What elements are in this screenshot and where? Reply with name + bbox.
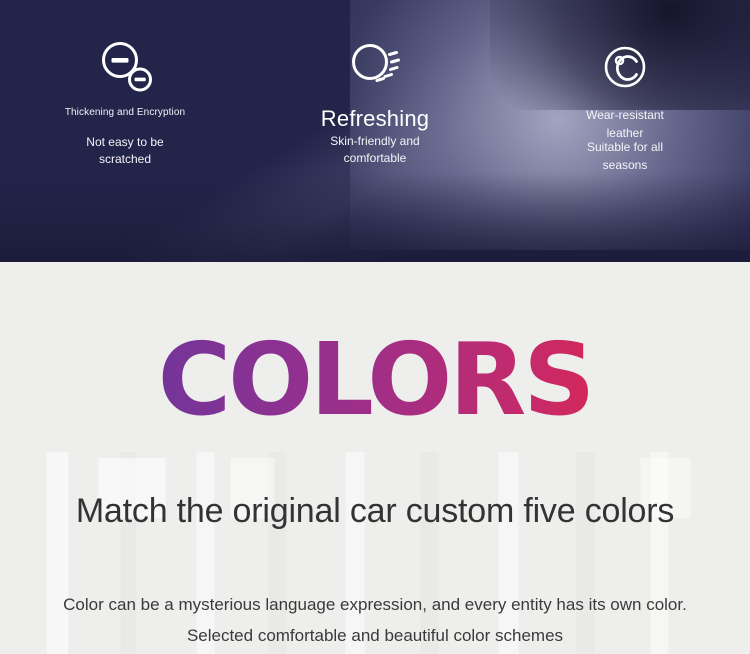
feature-subtitle-line-1: Skin-friendly and [330,134,419,148]
feature-item-wear-resistant: Wear-resistant leather Suitable for all … [500,34,750,174]
feature-title: Wear-resistant leather [500,106,750,142]
subcopy-line-2: Selected comfortable and beautiful color… [0,620,750,651]
feature-subtitle: Skin-friendly and comfortable [250,133,500,167]
subcopy-line-1: Color can be a mysterious language expre… [0,589,750,620]
feature-item-thickening: Thickening and Encryption Not easy to be… [0,34,250,174]
hero-bottom-fade [0,172,750,262]
feature-list: Thickening and Encryption Not easy to be… [0,0,750,174]
feature-subtitle-line-2: scratched [99,152,151,166]
feature-subtitle-line-1: Suitable for all [587,140,663,154]
feature-title: Thickening and Encryption [0,106,250,120]
feature-title-line-1: Wear-resistant [586,108,664,122]
feature-subtitle-line-1: Not easy to be [86,135,163,149]
feature-title: Refreshing [250,106,500,132]
feature-subtitle: Not easy to be scratched [0,134,250,168]
feature-item-refreshing: Refreshing Skin-friendly and comfortable [250,34,500,174]
feature-subtitle: Suitable for all seasons [500,138,750,174]
colors-wordmark: COLORS [0,330,750,430]
thickening-layers-icon [2,34,250,100]
breeze-refreshing-icon [250,34,500,100]
page-subcopy: Color can be a mysterious language expre… [0,589,750,651]
product-detail-page: Thickening and Encryption Not easy to be… [0,0,750,654]
feature-subtitle-line-2: comfortable [344,151,407,165]
hero-feature-banner: Thickening and Encryption Not easy to be… [0,0,750,262]
celsius-temperature-icon [500,34,750,100]
colors-section: COLORS Match the original car custom fiv… [0,262,750,654]
feature-subtitle-line-2: seasons [603,158,648,172]
page-headline: Match the original car custom five color… [0,490,750,532]
